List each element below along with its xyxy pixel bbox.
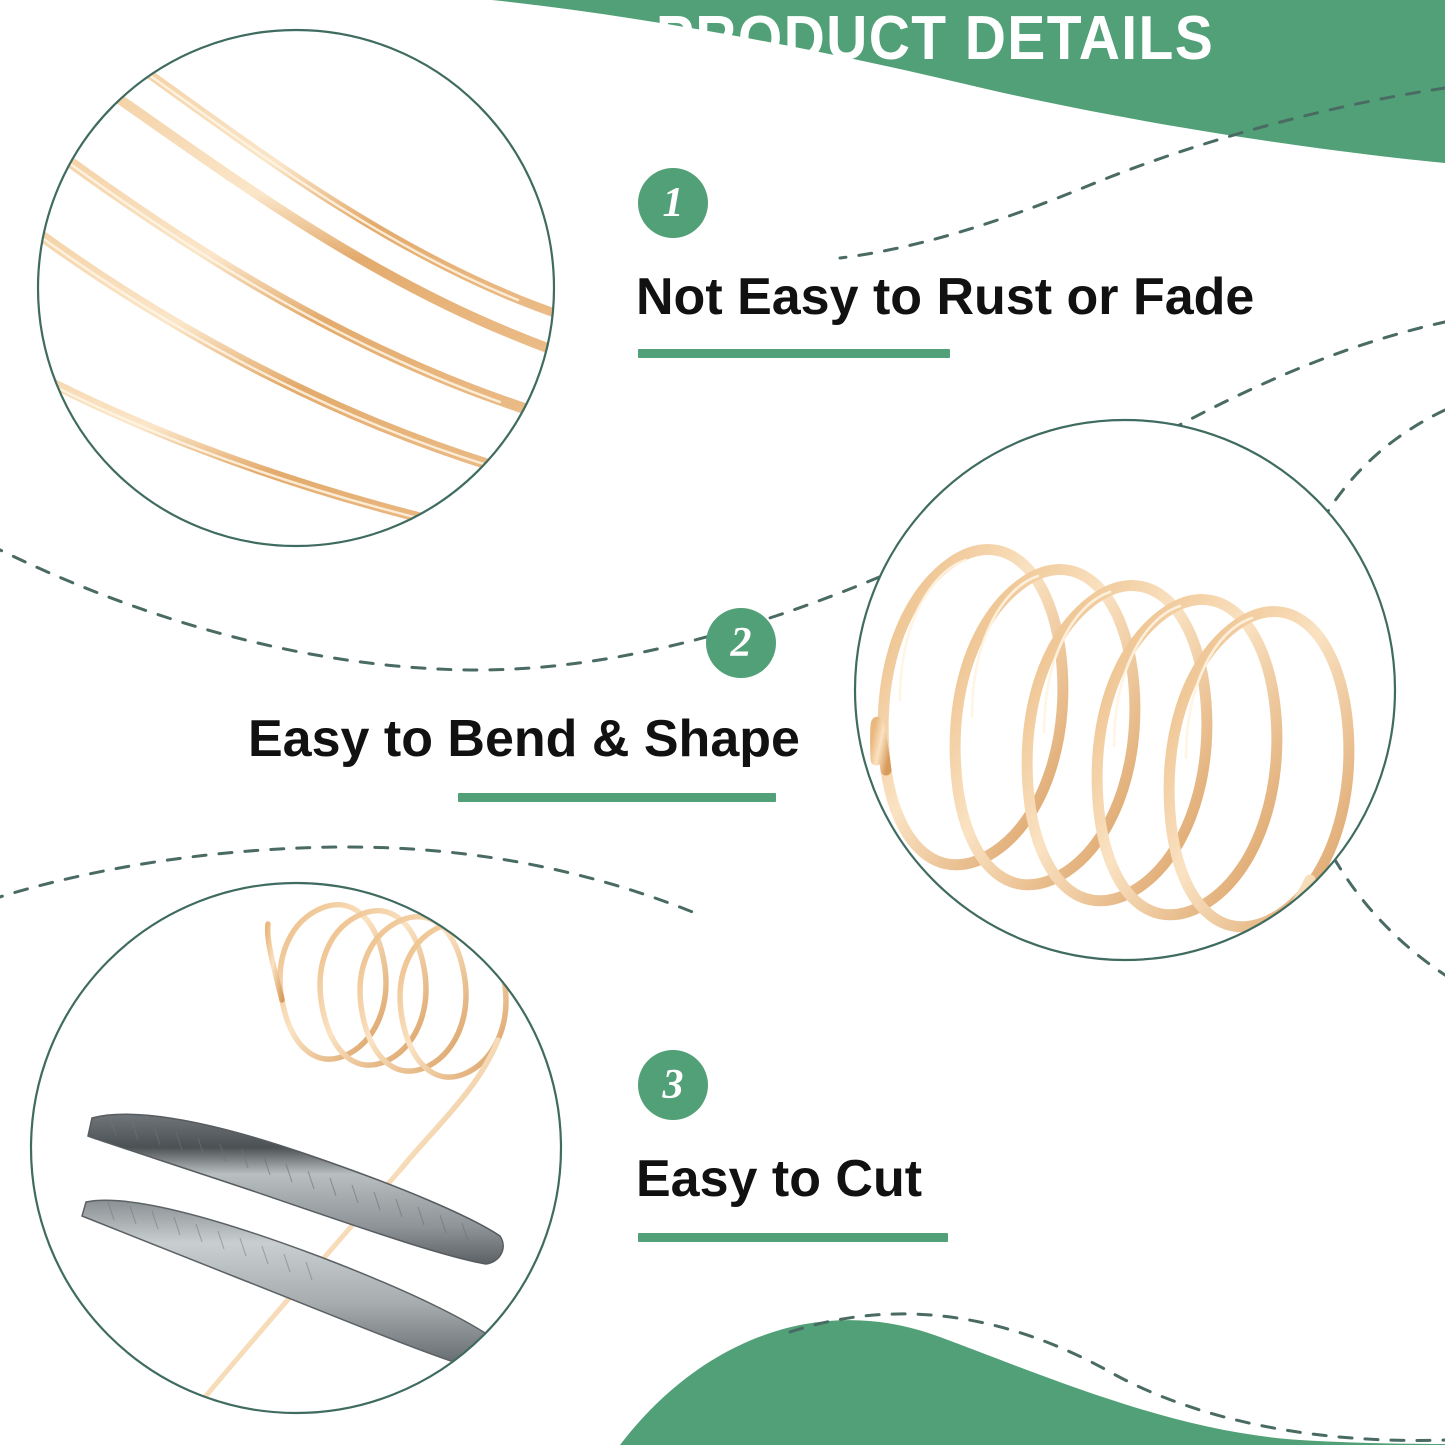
photo-1-outline: [38, 30, 554, 546]
wire-strand-vertical: [186, 1170, 400, 1420]
feature-underline-1: [638, 349, 950, 358]
feature-number-badge-1: 1: [638, 168, 708, 238]
dashed-curve-lower: [0, 847, 700, 915]
photo-3-outline: [31, 883, 561, 1413]
photo-2-outline: [855, 420, 1395, 960]
photo-wire-coil: [850, 415, 1402, 1035]
dashed-curve-footer: [790, 1314, 1445, 1441]
feature-title-1: Not Easy to Rust or Fade: [636, 270, 1254, 325]
feature-title-2: Easy to Bend & Shape: [248, 712, 776, 767]
feature-block-3: 3 Easy to Cut: [636, 1050, 948, 1242]
page-title: PRODUCT DETAILS: [645, 8, 1225, 70]
photo-pliers-cutting: [26, 878, 568, 1420]
feature-number-badge-3: 3: [638, 1050, 708, 1120]
feature-underline-3: [638, 1233, 948, 1242]
footer-wave-shape: [620, 1320, 1445, 1445]
feature-block-2: 2 Easy to Bend & Shape: [248, 608, 776, 802]
plier-jaw-upper: [88, 1114, 503, 1264]
feature-title-3: Easy to Cut: [636, 1152, 948, 1207]
feature-number-badge-2: 2: [706, 608, 776, 678]
product-details-infographic: PRODUCT DETAILS 1 Not Easy to Rust or Fa…: [0, 0, 1445, 1445]
jaw-upper-texture: [110, 1118, 468, 1241]
feature-block-1: 1 Not Easy to Rust or Fade: [636, 168, 1254, 358]
dashed-curve-coil-outer: [1285, 410, 1445, 975]
plier-jaw-lower: [82, 1200, 508, 1372]
feature-underline-2: [458, 793, 776, 802]
jaw-lower-texture: [108, 1202, 312, 1280]
